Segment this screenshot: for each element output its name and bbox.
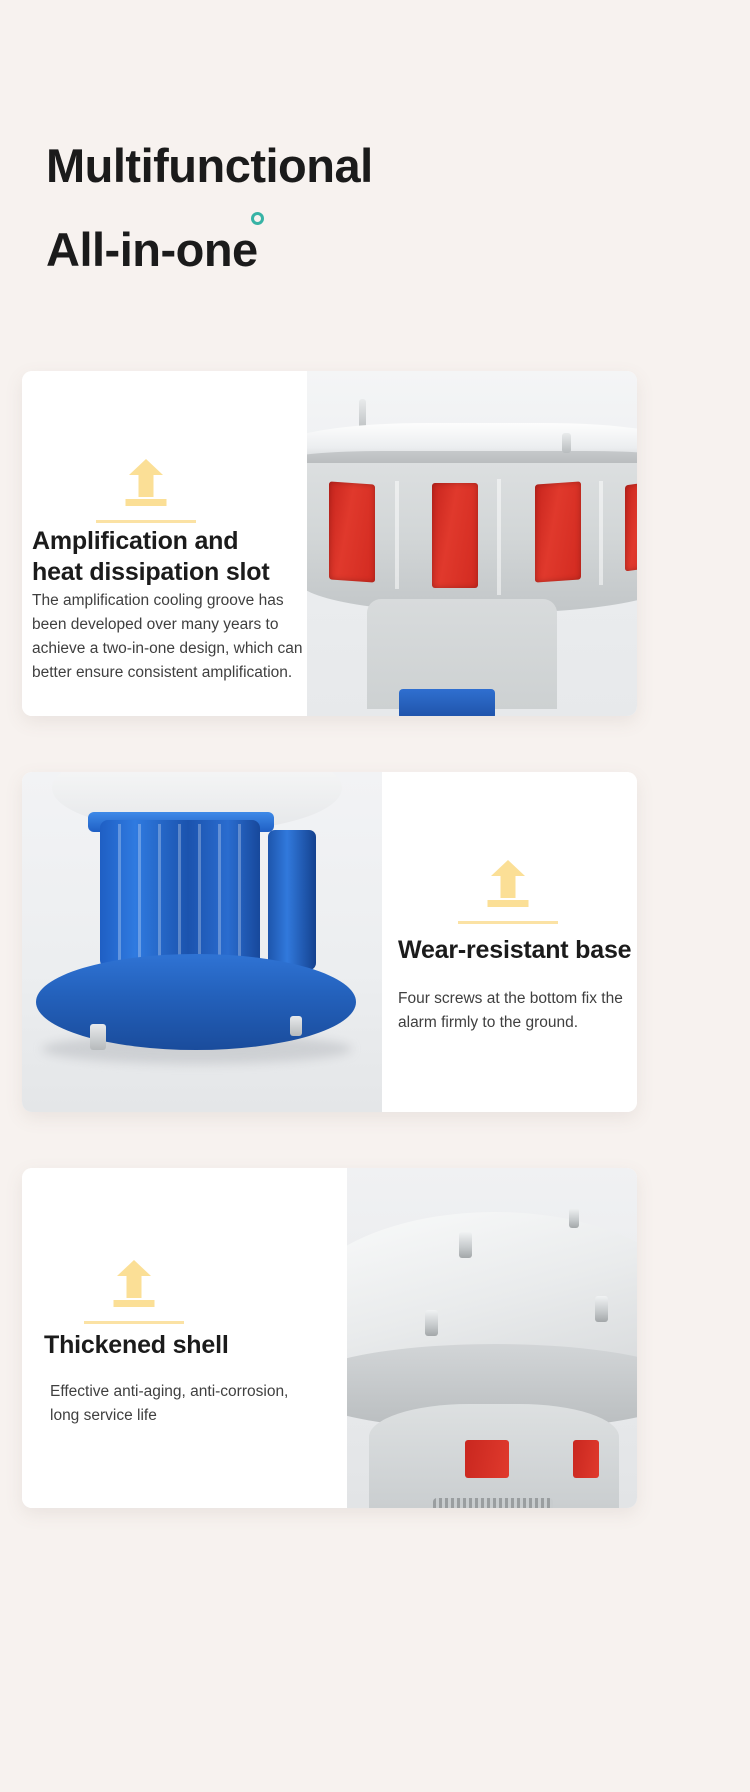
feature-card-title: Thickened shell: [44, 1330, 344, 1361]
product-feature-page: Multifunctional All-in-one Amplification…: [0, 0, 750, 1792]
upload-arrow-icon: [458, 860, 558, 922]
feature-card-text-panel: Amplification and heat dissipation slot …: [22, 371, 307, 716]
page-title-line-2: All-in-one: [46, 226, 686, 273]
feature-card-text-panel: Thickened shell Effective anti-aging, an…: [22, 1168, 347, 1508]
feature-card-body: Four screws at the bottom fix the alarm …: [398, 987, 637, 1035]
upload-arrow-icon: [96, 459, 196, 521]
feature-card-title: Wear-resistant base: [398, 935, 637, 966]
teal-circle-accent-icon: [251, 212, 264, 225]
upload-arrow-icon: [84, 1260, 184, 1322]
feature-card-text-panel: Wear-resistant base Four screws at the b…: [382, 772, 637, 1112]
feature-card-amplification[interactable]: Amplification and heat dissipation slot …: [22, 371, 637, 716]
page-title-line-1: Multifunctional: [46, 142, 686, 189]
feature-card-wear-resistant-base[interactable]: Wear-resistant base Four screws at the b…: [22, 772, 637, 1112]
feature-card-body: The amplification cooling groove has bee…: [32, 589, 304, 685]
siren-heat-dissipation-slot-photo: [307, 371, 637, 716]
thickened-shell-top-plate-photo: [347, 1168, 637, 1508]
feature-card-title: Amplification and heat dissipation slot: [32, 526, 307, 587]
page-title: Multifunctional All-in-one: [46, 142, 686, 273]
feature-card-body: Effective anti-aging, anti-corrosion, lo…: [50, 1380, 340, 1428]
blue-motor-wear-resistant-base-photo: [22, 772, 382, 1112]
feature-card-thickened-shell[interactable]: Thickened shell Effective anti-aging, an…: [22, 1168, 637, 1508]
